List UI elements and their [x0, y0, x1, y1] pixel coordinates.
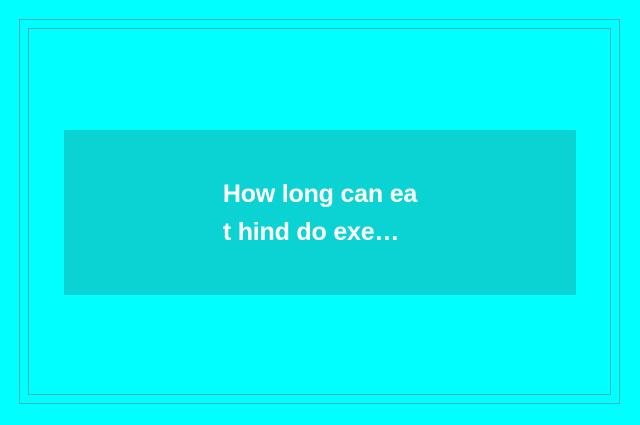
screenshot-canvas: How long can ea t hind do exe… [0, 0, 640, 425]
title-line-2: t hind do exe… [223, 213, 417, 251]
title-line-1: How long can ea [223, 175, 417, 213]
title-card: How long can ea t hind do exe… [64, 130, 576, 295]
title-text-block: How long can ea t hind do exe… [223, 175, 417, 251]
